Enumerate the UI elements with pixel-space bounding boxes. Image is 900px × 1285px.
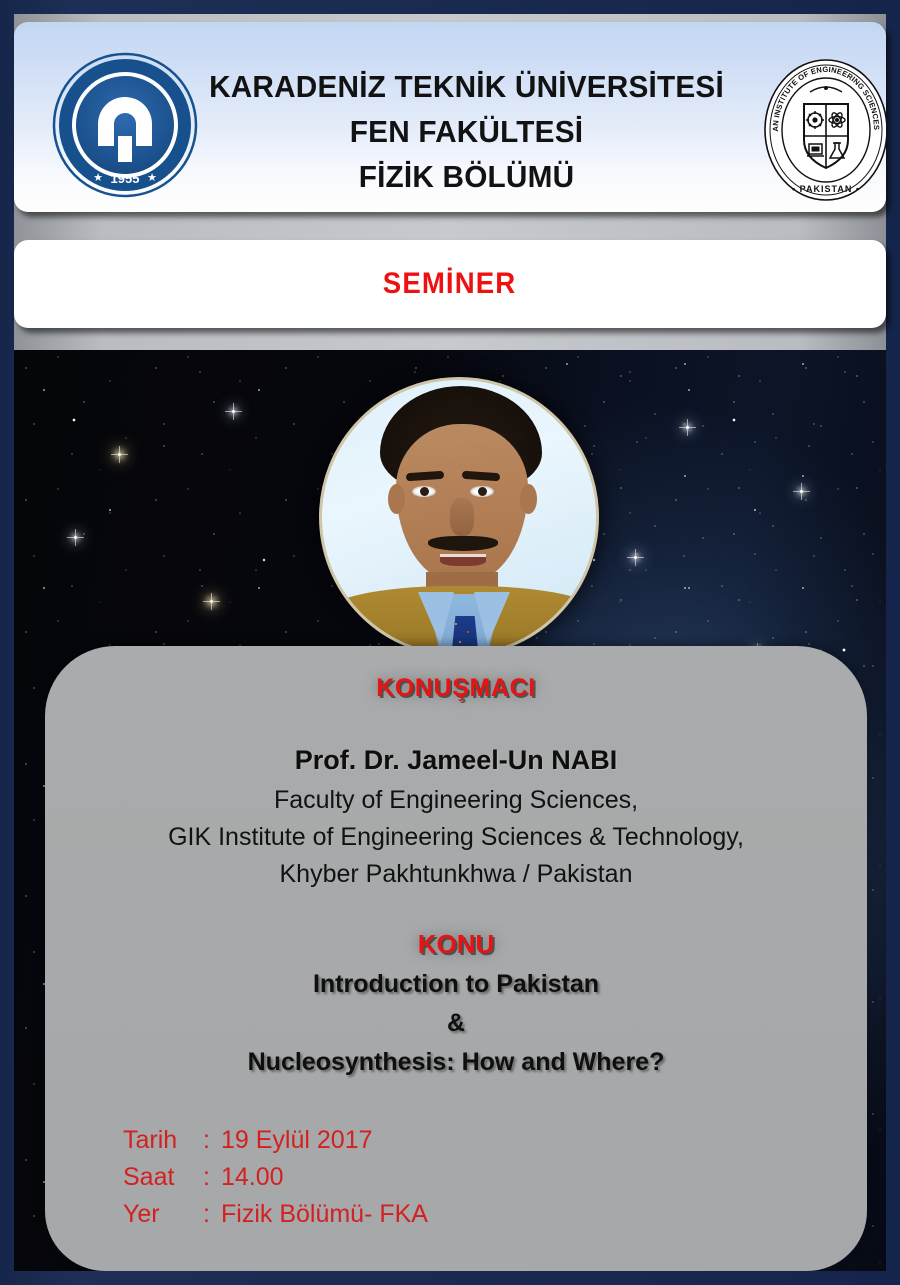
header-title-line-2: FEN FAKÜLTESİ — [200, 109, 733, 154]
portrait-eye-left — [412, 486, 436, 497]
seminer-banner-card: SEMİNER — [14, 240, 886, 328]
portrait-ear-left — [388, 484, 405, 514]
place-value: Fizik Bölümü- FKA — [221, 1196, 428, 1233]
topic-line-3: Nucleosynthesis: How and Where? — [63, 1043, 849, 1082]
speaker-portrait-avatar — [319, 377, 599, 657]
time-label: Saat — [123, 1159, 203, 1196]
svg-text:★: ★ — [93, 172, 103, 184]
topic-section-label: KONU — [63, 929, 849, 960]
bright-star-icon — [118, 453, 121, 456]
speaker-info-block: Prof. Dr. Jameel-Un NABI Faculty of Engi… — [63, 745, 849, 893]
event-details-block: Tarih : 19 Eylül 2017 Saat : 14.00 Yer :… — [63, 1122, 849, 1233]
time-value: 14.00 — [221, 1159, 284, 1196]
speaker-name: Prof. Dr. Jameel-Un NABI — [63, 745, 849, 776]
ktu-logo-icon: KARADENİZ TEKNİK ÜNİVERSİTESİ 1955 ★ ★ — [50, 50, 200, 200]
portrait-ear-right — [520, 484, 537, 514]
time-separator: : — [203, 1159, 221, 1196]
topic-line-2: & — [63, 1004, 849, 1043]
header-title-line-3: FİZİK BÖLÜMÜ — [200, 154, 733, 199]
topic-block: Introduction to Pakistan & Nucleosynthes… — [63, 965, 849, 1082]
detail-row-time: Saat : 14.00 — [123, 1159, 849, 1196]
place-separator: : — [203, 1196, 221, 1233]
speaker-affiliation-line-2: GIK Institute of Engineering Sciences & … — [63, 819, 849, 856]
header-card: KARADENİZ TEKNİK ÜNİVERSİTESİ 1955 ★ ★ K… — [14, 22, 886, 212]
portrait-moustache — [428, 536, 498, 551]
bright-star-icon — [800, 490, 803, 493]
header-title-block: KARADENİZ TEKNİK ÜNİVERSİTESİ FEN FAKÜLT… — [189, 64, 744, 199]
svg-text:★: ★ — [147, 172, 157, 184]
seminar-poster: KARADENİZ TEKNİK ÜNİVERSİTESİ 1955 ★ ★ K… — [0, 0, 900, 1285]
bright-star-icon — [210, 600, 213, 603]
speaker-section-label: KONUŞMACI — [63, 674, 849, 703]
portrait-eye-right — [470, 486, 494, 497]
date-label: Tarih — [123, 1122, 203, 1159]
bright-star-icon — [634, 556, 637, 559]
starfield-background: KONUŞMACI Prof. Dr. Jameel-Un NABI Facul… — [14, 350, 886, 1271]
bright-star-icon — [232, 410, 235, 413]
topic-line-1: Introduction to Pakistan — [63, 965, 849, 1004]
header-title-line-1: KARADENİZ TEKNİK ÜNİVERSİTESİ — [200, 64, 733, 109]
seminer-title: SEMİNER — [383, 267, 516, 301]
speaker-affiliation-line-1: Faculty of Engineering Sciences, — [63, 782, 849, 819]
speaker-affiliation-line-3: Khyber Pakhtunkhwa / Pakistan — [63, 856, 849, 893]
detail-row-place: Yer : Fizik Bölümü- FKA — [123, 1196, 849, 1233]
gik-institute-logo-icon: GHULAM ISHAQ KHAN INSTITUTE OF ENGINEERI… — [762, 52, 886, 202]
bright-star-icon — [74, 536, 77, 539]
portrait-nose — [450, 498, 474, 536]
date-value: 19 Eylül 2017 — [221, 1122, 373, 1159]
date-separator: : — [203, 1122, 221, 1159]
seminar-details-panel: KONUŞMACI Prof. Dr. Jameel-Un NABI Facul… — [45, 646, 867, 1271]
bright-star-icon — [686, 426, 689, 429]
portrait-mouth — [440, 554, 486, 566]
svg-text:• PAKISTAN •: • PAKISTAN • — [792, 184, 860, 194]
place-label: Yer — [123, 1196, 203, 1233]
detail-row-date: Tarih : 19 Eylül 2017 — [123, 1122, 849, 1159]
svg-text:1955: 1955 — [111, 171, 140, 186]
